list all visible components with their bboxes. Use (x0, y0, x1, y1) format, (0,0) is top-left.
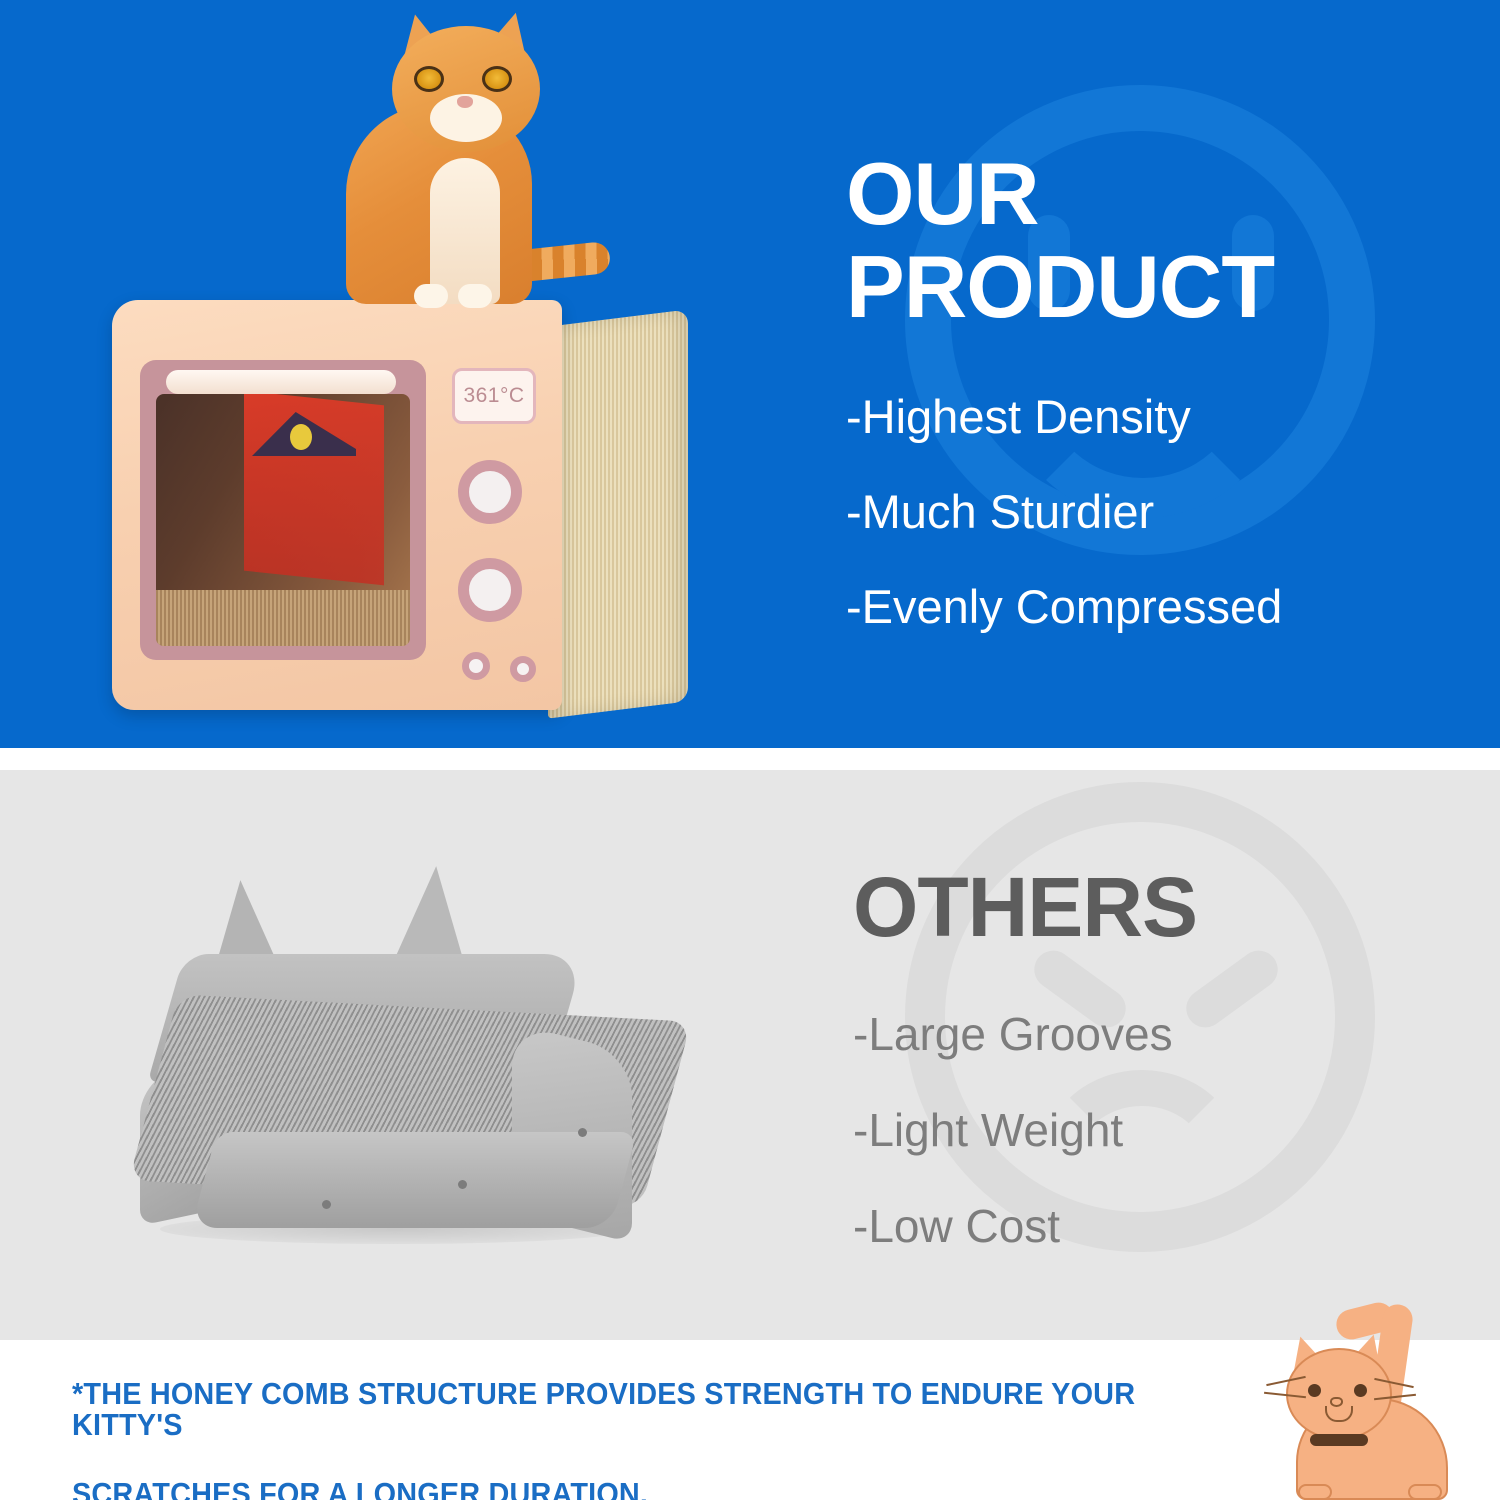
others-bullet-list: -Large Grooves -Light Weight -Low Cost (853, 1011, 1453, 1249)
our-product-text-block: OUR PRODUCT -Highest Density -Much Sturd… (846, 150, 1446, 678)
footer-note-line2: SCRATCHES FOR A LONGER DURATION. (72, 1478, 1169, 1500)
scratcher-screw-1 (322, 1200, 331, 1209)
microwave-door-frame (140, 360, 426, 660)
microwave-button-left (462, 652, 490, 680)
scratcher-front-panel (191, 1132, 637, 1228)
microwave-door-handle (166, 370, 396, 394)
cat-eye-left (414, 66, 444, 92)
others-section: OTHERS -Large Grooves -Light Weight -Low… (0, 770, 1500, 1340)
mascot-head (1286, 1348, 1392, 1440)
cat-chest (430, 158, 500, 304)
microwave-knob-top (458, 460, 522, 524)
mascot-eye-right (1354, 1384, 1367, 1397)
others-heading: OTHERS (853, 865, 1453, 949)
cat-paw-left (414, 284, 448, 308)
scratcher-screw-2 (458, 1180, 467, 1189)
our-product-heading-line1: OUR (846, 150, 1446, 238)
footer-note: *THE HONEY COMB STRUCTURE PROVIDES STREN… (72, 1378, 1252, 1500)
microwave-interior-floor (156, 590, 410, 646)
temperature-value: 361°C (463, 384, 524, 408)
microwave-glass-reflection (244, 394, 384, 585)
our-product-heading-line2: PRODUCT (846, 238, 1446, 337)
microwave-body: 361°C (112, 300, 562, 710)
microwave-scratcher-product-image: 361°C (112, 282, 692, 722)
our-product-section: 361°C OUR PRODUCT (0, 0, 1500, 748)
scratcher-screw-3 (578, 1128, 587, 1137)
microwave-window (156, 394, 410, 646)
mascot-paw-right (1408, 1484, 1442, 1500)
mascot-collar (1310, 1434, 1368, 1446)
mascot-eye-left (1308, 1384, 1321, 1397)
mascot-paw-left (1298, 1484, 1332, 1500)
microwave-cardboard-side (548, 309, 688, 718)
grey-scratcher-product-image (140, 880, 760, 1260)
cartoon-cat-mascot (1268, 1300, 1498, 1500)
cat-paw-right (458, 284, 492, 308)
others-bullet-3: -Low Cost (853, 1203, 1453, 1249)
microwave-button-right (510, 656, 536, 682)
cat-eye-right (482, 66, 512, 92)
our-product-bullet-1: -Highest Density (846, 393, 1446, 440)
infographic-page: 361°C OUR PRODUCT (0, 0, 1500, 1500)
others-bullet-1: -Large Grooves (853, 1011, 1453, 1057)
our-product-bullet-list: -Highest Density -Much Sturdier -Evenly … (846, 393, 1446, 630)
our-product-bullet-3: -Evenly Compressed (846, 583, 1446, 630)
footer-note-line1: *THE HONEY COMB STRUCTURE PROVIDES STREN… (72, 1378, 1169, 1440)
microwave-knob-bottom (458, 558, 522, 622)
others-text-block: OTHERS -Large Grooves -Light Weight -Low… (853, 865, 1453, 1299)
our-product-bullet-2: -Much Sturdier (846, 488, 1446, 535)
microwave-glass-highlight (290, 424, 312, 450)
cat-nose (457, 96, 473, 108)
microwave-temperature-display: 361°C (452, 368, 536, 424)
orange-tabby-cat-image (318, 8, 618, 308)
others-bullet-2: -Light Weight (853, 1107, 1453, 1153)
